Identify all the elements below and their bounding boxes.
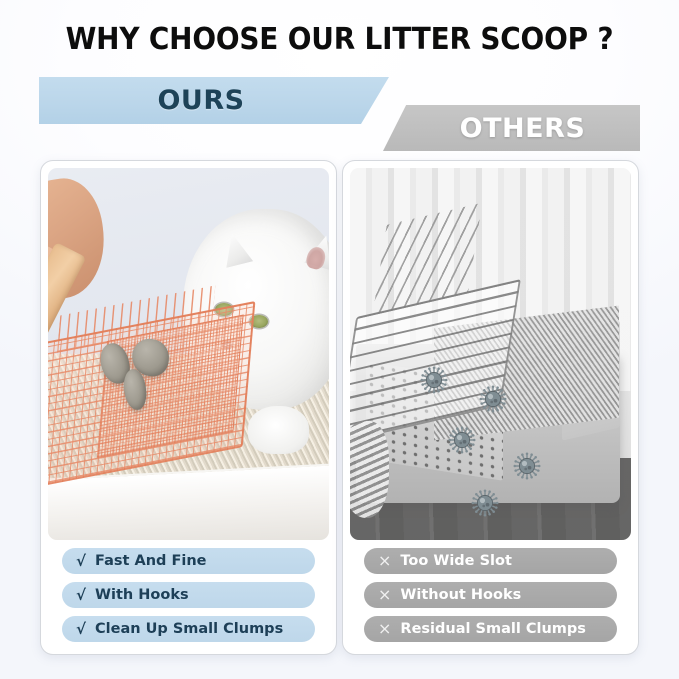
feature-label: Without Hooks	[400, 587, 521, 603]
feature-label: Clean Up Small Clumps	[95, 621, 283, 637]
germ-icon	[449, 426, 476, 453]
card-ours: √ Fast And Fine √ With Hooks √ Clean Up …	[40, 160, 337, 655]
comparison-infographic: WHY CHOOSE OUR LITTER SCOOP ? OURS OTHER…	[0, 0, 679, 679]
germ-icon	[471, 489, 498, 516]
features-others: × Too Wide Slot × Without Hooks × Residu…	[350, 540, 631, 654]
germ-icon	[480, 385, 507, 412]
photo-others-scoop	[350, 168, 631, 540]
features-ours: √ Fast And Fine √ With Hooks √ Clean Up …	[48, 540, 329, 654]
banner-ours-label: OURS	[157, 85, 244, 116]
cross-icon: ×	[378, 553, 391, 569]
feature-item: √ Clean Up Small Clumps	[62, 616, 315, 642]
page-title: WHY CHOOSE OUR LITTER SCOOP ?	[24, 22, 655, 57]
feature-label: With Hooks	[95, 587, 189, 603]
cat-paw	[248, 406, 310, 454]
cat-ear-left	[219, 230, 254, 268]
card-others: × Too Wide Slot × Without Hooks × Residu…	[342, 160, 639, 655]
check-icon: √	[76, 622, 86, 637]
banner-others-label: OTHERS	[460, 113, 586, 144]
germ-icon	[421, 367, 448, 394]
check-icon: √	[76, 588, 86, 603]
feature-item: × Too Wide Slot	[364, 548, 617, 574]
cross-icon: ×	[378, 587, 391, 603]
banner-ours: OURS	[39, 77, 389, 124]
feature-label: Fast And Fine	[95, 553, 206, 569]
check-icon: √	[76, 554, 86, 569]
feature-label: Residual Small Clumps	[400, 621, 585, 637]
feature-item: × Residual Small Clumps	[364, 616, 617, 642]
feature-item: × Without Hooks	[364, 582, 617, 608]
feature-item: √ With Hooks	[62, 582, 315, 608]
germ-icon	[514, 452, 541, 479]
feature-item: √ Fast And Fine	[62, 548, 315, 574]
cat-tail	[350, 421, 389, 518]
photo-ours-scoop	[48, 168, 329, 540]
feature-label: Too Wide Slot	[400, 553, 511, 569]
banner-others: OTHERS	[383, 105, 640, 151]
cross-icon: ×	[378, 621, 391, 637]
